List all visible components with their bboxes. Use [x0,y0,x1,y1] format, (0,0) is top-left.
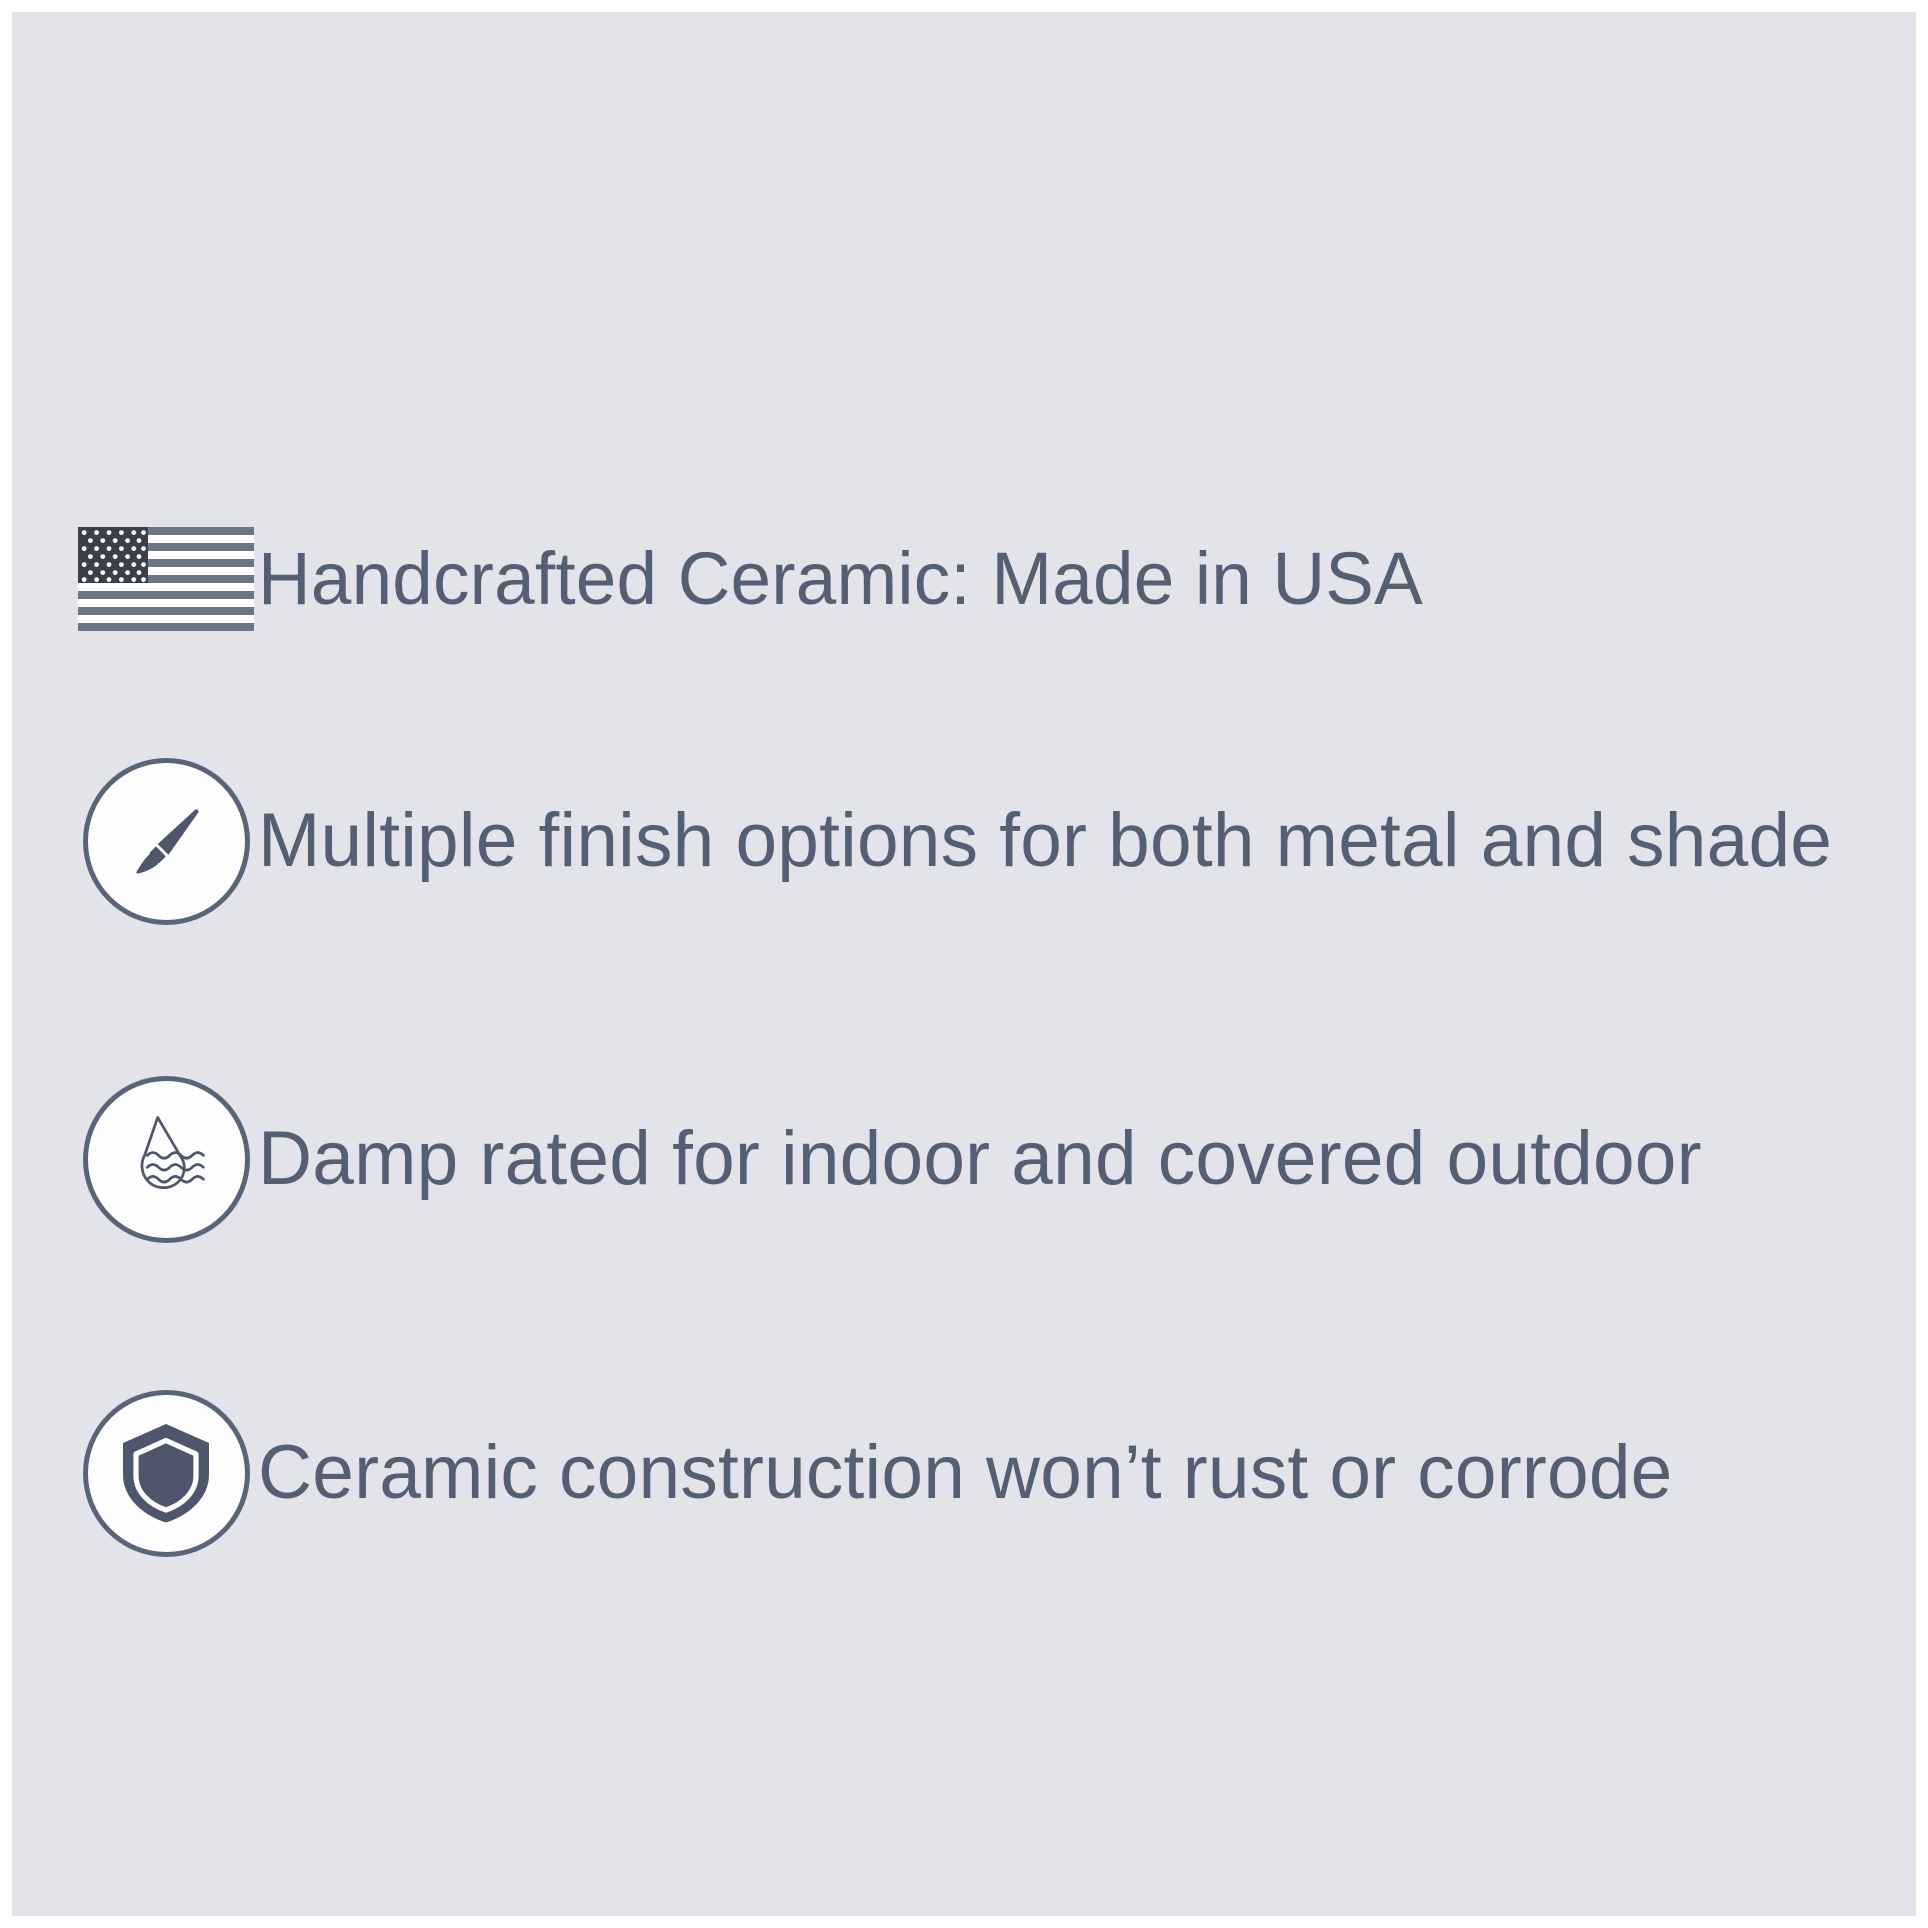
feature-row: Multiple finish options for both metal a… [12,752,1916,930]
water-droplet-waves-icon [112,1105,220,1213]
feature-label: Damp rated for indoor and covered outdoo… [258,1120,1702,1198]
feature-panel: Handcrafted Ceramic: Made in USA [12,12,1916,1916]
feature-list: Handcrafted Ceramic: Made in USA [12,12,1916,1916]
feature-label: Ceramic construction won’t rust or corro… [258,1434,1673,1512]
product-feature-graphic: Handcrafted Ceramic: Made in USA [0,0,1928,1928]
usa-flag-icon [78,527,254,631]
feature-row: Damp rated for indoor and covered outdoo… [12,1070,1916,1248]
feature-icon-slot [12,504,258,654]
paintbrush-icon [114,789,218,893]
shield-icon [116,1421,216,1525]
feature-row: Handcrafted Ceramic: Made in USA [12,504,1916,654]
icon-circle [83,1390,250,1557]
icon-circle [83,1076,250,1243]
feature-label: Handcrafted Ceramic: Made in USA [258,541,1423,616]
feature-icon-slot [12,752,258,930]
feature-row: Ceramic construction won’t rust or corro… [12,1384,1916,1562]
feature-icon-slot [12,1384,258,1562]
feature-icon-slot [12,1070,258,1248]
icon-circle [83,758,250,925]
feature-label: Multiple finish options for both metal a… [258,802,1832,880]
